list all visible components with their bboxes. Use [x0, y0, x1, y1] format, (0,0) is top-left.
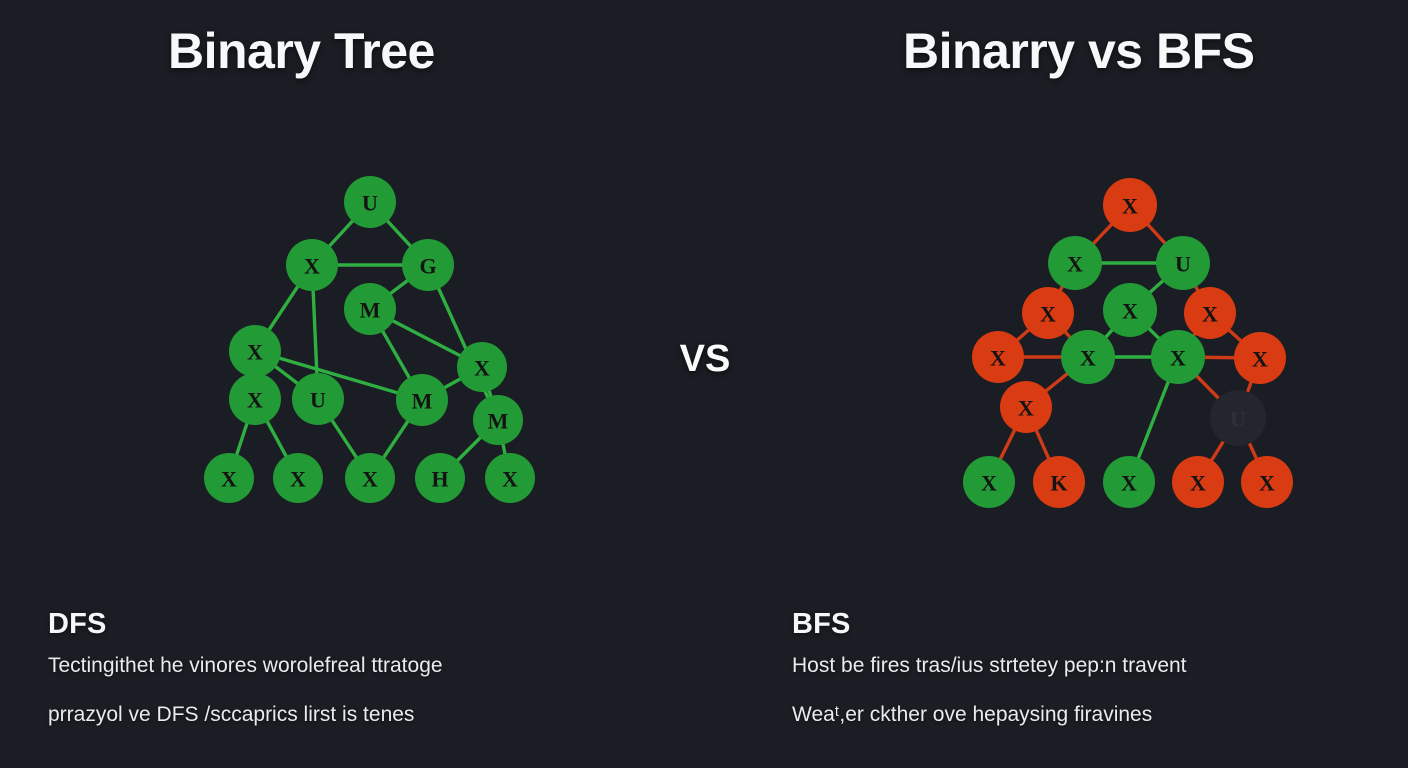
- node-label: X: [474, 356, 490, 381]
- node-label: X: [247, 340, 263, 365]
- graph-svg-left: UXGMXXXUMMXXXHX: [110, 150, 630, 540]
- bfs-tree-graph-right: XXUXXXXXXXXUXKXXX: [880, 150, 1400, 540]
- graph-node[interactable]: X: [1048, 236, 1102, 290]
- caption-line-2-bfs: Weaᵗ,er ckther ove hepaysing firavines: [792, 704, 1392, 726]
- graph-node[interactable]: H: [415, 453, 465, 503]
- graph-node[interactable]: X: [1103, 456, 1155, 508]
- node-label: X: [1190, 471, 1206, 496]
- graph-node[interactable]: X: [1241, 456, 1293, 508]
- node-label: M: [488, 409, 509, 434]
- node-label: M: [360, 298, 381, 323]
- graph-node[interactable]: X: [963, 456, 1015, 508]
- node-label: X: [981, 471, 997, 496]
- graph-node[interactable]: K: [1033, 456, 1085, 508]
- slide-canvas: Binary Tree Binarry vs BFS VS UXGMXXXUMM…: [0, 0, 1408, 768]
- graph-node[interactable]: X: [1103, 178, 1157, 232]
- binary-tree-graph-left: UXGMXXXUMMXXXHX: [110, 150, 630, 540]
- node-label: X: [247, 388, 263, 413]
- graph-node[interactable]: X: [1022, 287, 1074, 339]
- graph-node[interactable]: U: [344, 176, 396, 228]
- node-label: X: [1067, 252, 1083, 277]
- caption-heading-dfs: DFS: [48, 608, 648, 641]
- node-label: U: [1175, 252, 1191, 277]
- node-label: X: [1018, 396, 1034, 421]
- graph-node[interactable]: X: [972, 331, 1024, 383]
- node-label: K: [1050, 471, 1067, 496]
- page-title-right: Binarry vs BFS: [903, 22, 1254, 80]
- node-label: H: [431, 467, 448, 492]
- graph-node[interactable]: X: [286, 239, 338, 291]
- node-label: X: [1040, 302, 1056, 327]
- graph-node[interactable]: X: [1234, 332, 1286, 384]
- graph-node[interactable]: X: [1061, 330, 1115, 384]
- node-label: X: [1259, 471, 1275, 496]
- graph-node[interactable]: X: [204, 453, 254, 503]
- node-label: X: [362, 467, 378, 492]
- node-label: X: [502, 467, 518, 492]
- caption-block-bfs: BFS Host be fires tras/ius strtetey pep:…: [792, 608, 1392, 753]
- graph-node[interactable]: U: [292, 373, 344, 425]
- graph-node[interactable]: X: [229, 373, 281, 425]
- graph-node[interactable]: X: [1000, 381, 1052, 433]
- caption-line-2-dfs: prrazyol ve DFS /sccaprics lirst is tene…: [48, 704, 648, 726]
- node-layer-left: UXGMXXXUMMXXXHX: [204, 176, 535, 503]
- node-label: X: [304, 254, 320, 279]
- node-label: G: [419, 254, 436, 279]
- graph-svg-right: XXUXXXXXXXXUXKXXX: [880, 150, 1400, 540]
- node-label: X: [1252, 347, 1268, 372]
- node-label: X: [221, 467, 237, 492]
- node-label: X: [990, 346, 1006, 371]
- page-title-left: Binary Tree: [168, 22, 435, 80]
- caption-line-1-dfs: Tectingithet he vinores worolefreal ttra…: [48, 655, 648, 677]
- graph-node[interactable]: U: [1210, 390, 1266, 446]
- graph-node[interactable]: X: [485, 453, 535, 503]
- node-label: X: [290, 467, 306, 492]
- graph-node[interactable]: X: [229, 325, 281, 377]
- node-label: U: [362, 191, 378, 216]
- graph-node[interactable]: X: [1172, 456, 1224, 508]
- graph-node[interactable]: X: [1184, 287, 1236, 339]
- vs-separator-label: VS: [663, 338, 747, 381]
- caption-heading-bfs: BFS: [792, 608, 1392, 641]
- graph-node[interactable]: X: [273, 453, 323, 503]
- graph-node[interactable]: X: [345, 453, 395, 503]
- graph-node[interactable]: X: [1151, 330, 1205, 384]
- node-label: X: [1122, 194, 1138, 219]
- node-label: M: [412, 389, 433, 414]
- graph-node[interactable]: G: [402, 239, 454, 291]
- node-label: X: [1080, 346, 1096, 371]
- graph-node[interactable]: X: [1103, 283, 1157, 337]
- graph-node[interactable]: M: [344, 283, 396, 335]
- graph-node[interactable]: M: [396, 374, 448, 426]
- caption-line-1-bfs: Host be fires tras/ius strtetey pep:n tr…: [792, 655, 1392, 677]
- node-label: U: [310, 388, 326, 413]
- node-layer-right: XXUXXXXXXXXUXKXXX: [963, 178, 1293, 508]
- graph-node[interactable]: U: [1156, 236, 1210, 290]
- graph-node[interactable]: M: [473, 395, 523, 445]
- node-label: X: [1202, 302, 1218, 327]
- node-label: X: [1121, 471, 1137, 496]
- caption-block-dfs: DFS Tectingithet he vinores worolefreal …: [48, 608, 648, 753]
- graph-node[interactable]: X: [457, 342, 507, 392]
- node-label: X: [1170, 346, 1186, 371]
- node-label: X: [1122, 299, 1138, 324]
- node-label: U: [1230, 407, 1246, 432]
